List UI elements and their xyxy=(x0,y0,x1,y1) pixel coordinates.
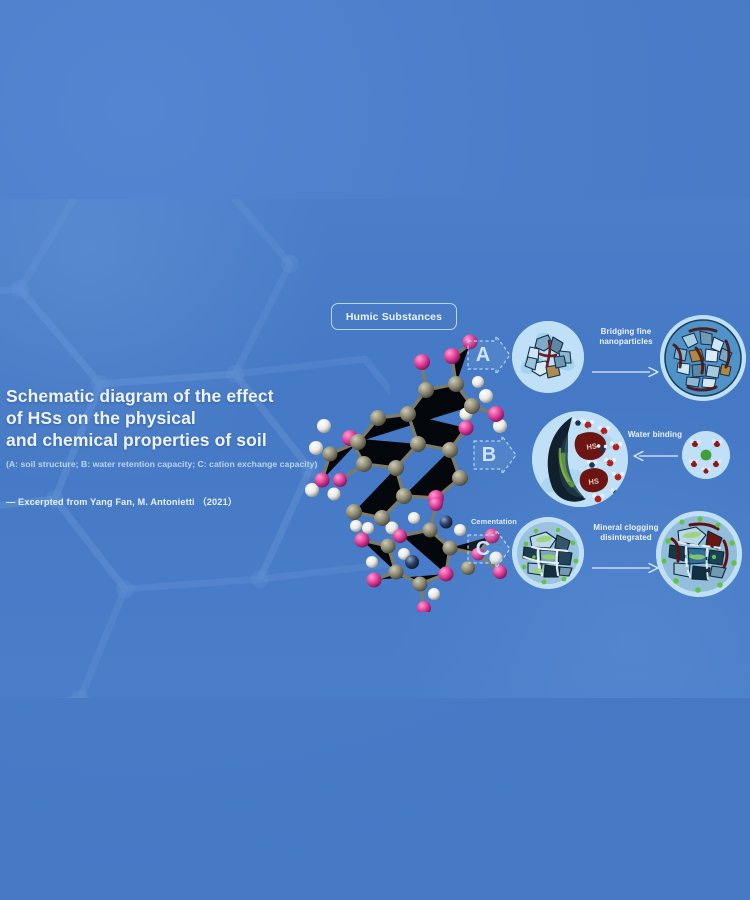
badge-a: A xyxy=(466,333,512,377)
circle-b-left: HS HS xyxy=(532,411,628,507)
connector-c-label: Mineral clogging disintegrated xyxy=(584,523,668,543)
circle-a-left xyxy=(512,321,584,393)
circle-c-left xyxy=(512,517,584,589)
figure-panel: Schematic diagram of the effect of HSs o… xyxy=(0,199,750,698)
title-line-2: of HSs on the physical xyxy=(6,407,336,429)
connector-a xyxy=(592,365,660,379)
badge-c-letter: C xyxy=(466,527,500,571)
poster-text-block: Schematic diagram of the effect of HSs o… xyxy=(6,385,336,508)
svg-text:HS: HS xyxy=(588,476,600,486)
connector-a-label: Bridging fine nanoparticles xyxy=(586,327,666,347)
poster-canvas: Schematic diagram of the effect of HSs o… xyxy=(0,0,750,900)
badge-b-letter: B xyxy=(472,433,506,477)
citation-line: — Excerpted from Yang Fan, M. Antonietti… xyxy=(6,494,336,508)
title-subtitle: (A: soil structure; B: water retention c… xyxy=(6,459,336,469)
circle-c-right xyxy=(656,511,742,597)
connector-c xyxy=(592,561,660,575)
title-line-1: Schematic diagram of the effect xyxy=(6,385,336,407)
svg-text:HS: HS xyxy=(586,441,598,451)
circle-a-right xyxy=(660,315,746,401)
row-c-pre-label: Cementation xyxy=(471,517,517,526)
page-title: Schematic diagram of the effect of HSs o… xyxy=(6,385,336,451)
circle-b-right xyxy=(682,431,730,479)
connector-b-label: Water binding xyxy=(624,430,686,440)
badge-c: C xyxy=(466,527,512,571)
badge-b: B xyxy=(472,433,518,477)
connector-b xyxy=(632,449,678,463)
title-line-3: and chemical properties of soil xyxy=(6,429,336,451)
badge-a-letter: A xyxy=(466,333,500,377)
